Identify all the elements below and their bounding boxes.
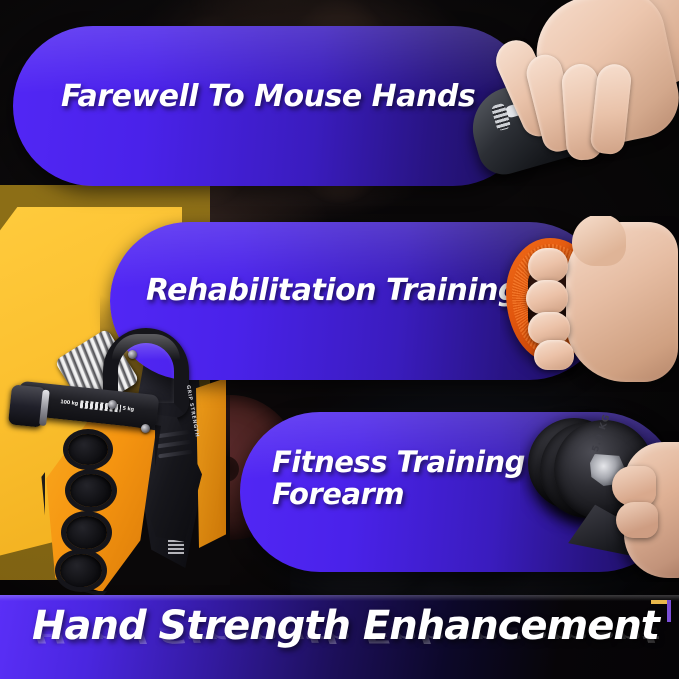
grip-finger-hole: [68, 434, 108, 465]
gripper-screw: [108, 400, 117, 409]
gripper-adjustment-knob[interactable]: [8, 384, 46, 427]
headline-bar-gloss: [0, 595, 679, 601]
hand-on-mouse: [474, 0, 674, 182]
feature-pill-label-farewell: Farewell To Mouse Hands: [61, 80, 475, 114]
gripper-screw: [141, 424, 150, 433]
photo-hand-with-dumbbell: 5.0 KG: [520, 406, 679, 582]
finger-knuckle: [528, 248, 568, 282]
hand-grip-strengthener-product: GRIP STRENGTH 100 kg 5 kg: [8, 320, 218, 595]
corner-bracket-accent: [651, 600, 671, 622]
gripper-finger-grip: [44, 420, 156, 592]
headline-text: Hand Strength Enhancement: [32, 603, 659, 649]
hand-gripping-dumbbell: [612, 442, 679, 582]
headline-bar: Hand Strength Enhancement Hand Strength …: [0, 595, 679, 679]
fingers: [612, 466, 656, 506]
photo-hand-with-mouse: [452, 0, 679, 186]
feature-pill-label-fitness: Fitness Training Forearm: [272, 446, 525, 511]
finger-knuckle: [526, 280, 568, 314]
bracket-vertical-segment: [667, 600, 671, 622]
grip-finger-hole: [66, 516, 107, 549]
photo-fist-with-grip-ring: [500, 216, 679, 392]
clenched-fist: [512, 220, 678, 388]
gripper-screw: [128, 350, 137, 359]
fingers: [616, 502, 658, 538]
scale-max-label: 100 kg: [60, 400, 78, 407]
gripper-vent-slots: [155, 430, 194, 474]
product-feature-poster: Rehabilitation Training Fitness Training…: [0, 0, 679, 679]
feature-pill-label-rehabilitation: Rehabilitation Training: [146, 274, 519, 308]
scale-min-label: 5 kg: [122, 406, 134, 412]
grip-finger-hole: [70, 474, 112, 507]
grip-finger-hole: [60, 554, 102, 587]
thumb: [572, 216, 626, 266]
finger-knuckle: [534, 340, 574, 370]
